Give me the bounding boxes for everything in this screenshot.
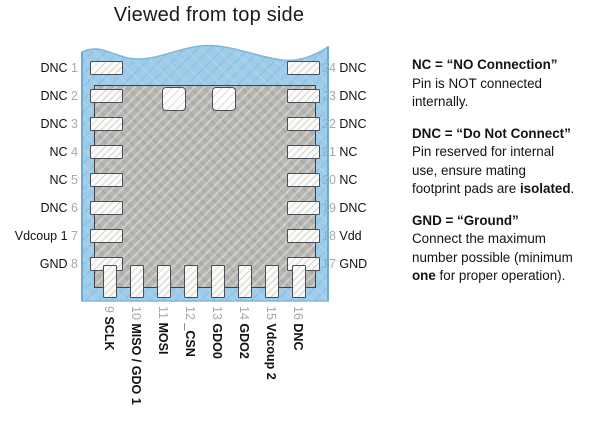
- pin-label-5-number: 5: [71, 173, 78, 187]
- pin-label-21-name: NC: [339, 145, 357, 159]
- pin-label-2: DNC 2: [40, 89, 78, 103]
- legend-nc: NC = “NO Connection” Pin is NOT connecte…: [412, 56, 600, 112]
- pin-label-2-number: 2: [71, 89, 78, 103]
- center-pad-1: [162, 87, 186, 111]
- pin-label-3-name: DNC: [40, 117, 67, 131]
- pin-label-7-name: Vdcoup 1: [15, 229, 68, 243]
- pin-label-17-name: GND: [339, 257, 367, 271]
- pad-right-24: [287, 61, 320, 75]
- pin-label-23: 23 DNC: [322, 89, 366, 103]
- pad-right-18: [287, 229, 320, 243]
- pad-bottom-15: [265, 265, 279, 298]
- pad-bottom-12: [184, 265, 198, 298]
- pin-label-12-number: 12: [183, 306, 197, 320]
- pin-label-1-name: DNC: [40, 61, 67, 75]
- pin-label-10-number: 10: [129, 306, 143, 320]
- chip-package: [80, 38, 330, 303]
- pin-label-7-number: 7: [71, 229, 78, 243]
- pad-right-23: [287, 89, 320, 103]
- legend-dnc-line2: use, ensure mating: [412, 162, 600, 181]
- pin-label-24: 24 DNC: [322, 61, 366, 75]
- pin-label-6-number: 6: [71, 201, 78, 215]
- pad-bottom-9: [103, 265, 117, 298]
- pin-label-19-number: 19: [322, 201, 336, 215]
- legend-dnc-line1: Pin reserved for internal: [412, 143, 600, 162]
- pin-label-4-name: NC: [50, 145, 68, 159]
- pin-label-11-number: 11: [156, 306, 170, 319]
- pin-label-6: DNC 6: [40, 201, 78, 215]
- pin-label-14: 14 GDO2: [237, 306, 251, 416]
- pin-label-13: 13 GDO0: [210, 306, 224, 416]
- pin-label-22-number: 22: [322, 117, 336, 131]
- legend-gnd: GND = “Ground” Connect the maximum numbe…: [412, 212, 600, 286]
- legend-dnc: DNC = “Do Not Connect” Pin reserved for …: [412, 125, 600, 199]
- pin-label-21: 21 NC: [322, 145, 357, 159]
- legend-gnd-line1: Connect the maximum: [412, 230, 600, 249]
- pad-left-3: [90, 117, 123, 131]
- pin-label-5: NC 5: [50, 173, 79, 187]
- right-pin-labels: 24 DNC 23 DNC 22 DNC 21 NC 20 NC 19 DNC …: [322, 0, 412, 265]
- pad-right-22: [287, 117, 320, 131]
- pad-left-2: [90, 89, 123, 103]
- pad-right-20: [287, 173, 320, 187]
- pin-label-16: 16 DNC: [291, 306, 305, 416]
- center-pad-2: [212, 87, 236, 111]
- pad-bottom-16: [292, 265, 306, 298]
- pin-label-19: 19 DNC: [322, 201, 366, 215]
- pin-label-17: 17 GND: [322, 257, 367, 271]
- pin-label-14-number: 14: [237, 306, 251, 320]
- pin-label-3: DNC 3: [40, 117, 78, 131]
- pin-label-8-name: GND: [40, 257, 68, 271]
- pin-label-8: GND 8: [40, 257, 78, 271]
- pad-bottom-10: [130, 265, 144, 298]
- pin-label-13-name: GDO0: [210, 323, 224, 358]
- pin-label-24-number: 24: [322, 61, 336, 75]
- pin-label-4-number: 4: [71, 145, 78, 159]
- pad-bottom-11: [157, 265, 171, 298]
- pad-left-7: [90, 229, 123, 243]
- pin-label-22: 22 DNC: [322, 117, 366, 131]
- pin-label-9-number: 9: [102, 306, 116, 313]
- pin-label-20-name: NC: [339, 173, 357, 187]
- pin-label-6-name: DNC: [40, 201, 67, 215]
- pin-label-20: 20 NC: [322, 173, 357, 187]
- pin-label-18-number: 18: [322, 229, 336, 243]
- legend-gnd-emphasis-one: one: [412, 268, 436, 283]
- pin-label-18-name: Vdd: [339, 229, 361, 243]
- legend-dnc-line3-c: .: [571, 181, 575, 196]
- pin-label-12: 12 _CSN: [183, 306, 197, 416]
- pin-label-12-name: _CSN: [183, 323, 197, 356]
- pad-bottom-13: [211, 265, 225, 298]
- legend-gnd-line3-b: for proper operation).: [436, 268, 566, 283]
- pin-label-23-number: 23: [322, 89, 336, 103]
- legend-dnc-line3-a: footprint pads are: [412, 181, 520, 196]
- pin-label-7: Vdcoup 1 7: [15, 229, 78, 243]
- pin-label-23-name: DNC: [339, 89, 366, 103]
- pin-label-18: 18 Vdd: [322, 229, 362, 243]
- pin-label-8-number: 8: [71, 257, 78, 271]
- pin-label-13-number: 13: [210, 306, 224, 320]
- legend-nc-line1: Pin is NOT connected: [412, 75, 600, 94]
- pin-label-22-name: DNC: [339, 117, 366, 131]
- legend-dnc-line3: footprint pads are isolated.: [412, 180, 600, 199]
- pin-label-15-name: Vdcoup 2: [264, 323, 278, 379]
- legend-gnd-heading: GND = “Ground”: [412, 212, 600, 231]
- pin-label-3-number: 3: [71, 117, 78, 131]
- pad-left-4: [90, 145, 123, 159]
- pin-label-10: 10 MISO / GDO 1: [129, 306, 143, 416]
- pin-label-4: NC 4: [50, 145, 79, 159]
- legend-gnd-line3: one for proper operation).: [412, 267, 600, 286]
- pin-label-5-name: NC: [50, 173, 68, 187]
- pad-bottom-14: [238, 265, 252, 298]
- pin-label-2-name: DNC: [40, 89, 67, 103]
- pin-label-1: DNC 1: [40, 61, 78, 75]
- pin-label-24-name: DNC: [339, 61, 366, 75]
- pin-label-16-name: DNC: [291, 323, 305, 350]
- pin-label-15: 15 Vdcoup 2: [264, 306, 278, 416]
- pin-label-11-name: MOSI: [156, 322, 170, 354]
- pin-label-10-name: MISO / GDO 1: [129, 323, 143, 404]
- die-body: [94, 85, 316, 288]
- pad-left-1: [90, 61, 123, 75]
- page-title: Viewed from top side: [94, 4, 324, 27]
- pin-label-11: 11 MOSI: [156, 306, 170, 416]
- pin-label-1-number: 1: [71, 61, 78, 75]
- pin-label-17-number: 17: [322, 257, 336, 271]
- legend-dnc-emphasis-isolated: isolated: [520, 181, 571, 196]
- pin-label-15-number: 15: [264, 306, 278, 320]
- legend-gnd-line2: number possible (minimum: [412, 249, 600, 268]
- legend-dnc-heading: DNC = “Do Not Connect”: [412, 125, 600, 144]
- left-pin-labels: DNC 1 DNC 2 DNC 3 NC 4 NC 5 DNC 6 Vdcoup…: [0, 0, 78, 265]
- pinout-diagram: Viewed from top side: [0, 0, 600, 421]
- pad-right-19: [287, 201, 320, 215]
- pad-left-6: [90, 201, 123, 215]
- legend-nc-line2: internally.: [412, 93, 600, 112]
- pad-right-21: [287, 145, 320, 159]
- pin-label-20-number: 20: [322, 173, 336, 187]
- legend-panel: NC = “NO Connection” Pin is NOT connecte…: [412, 56, 600, 286]
- pin-label-21-number: 21: [322, 145, 336, 159]
- pin-label-9: 9 SCLK: [102, 306, 116, 416]
- pad-left-5: [90, 173, 123, 187]
- pin-label-16-number: 16: [291, 306, 305, 320]
- pin-label-19-name: DNC: [339, 201, 366, 215]
- pin-label-9-name: SCLK: [102, 316, 116, 350]
- pin-label-14-name: GDO2: [237, 323, 251, 358]
- legend-nc-heading: NC = “NO Connection”: [412, 56, 600, 75]
